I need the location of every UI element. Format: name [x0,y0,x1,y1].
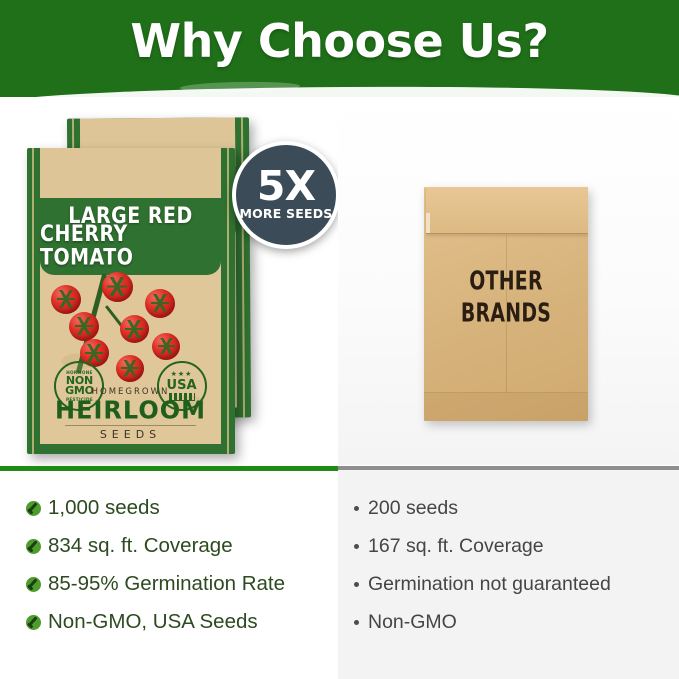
other-brands-line1: OTHER [432,265,580,297]
our-product-panel: LARGE RED CHERRY TOMATO ★★★ USA [0,97,338,465]
tomato-fruit [145,289,175,318]
packet-right-edge [227,148,229,454]
check-circle-icon [26,539,41,554]
list-item: 167 sq. ft. Coverage [354,527,673,565]
other-brands-label: OTHER BRANDS [432,265,580,329]
competitor-features-list: 200 seeds 167 sq. ft. Coverage Germinati… [354,489,673,641]
badge-subtitle-label: MORE SEEDS [239,206,332,221]
list-item: Non-GMO, USA Seeds [26,603,332,641]
competitor-features-panel: 200 seeds 167 sq. ft. Coverage Germinati… [338,470,679,679]
tomato-vine-illustration [40,269,221,379]
dot-bullet-icon [354,582,359,587]
our-features-panel: 1,000 seeds 834 sq. ft. Coverage 85-95% … [0,471,338,679]
packet-title-line2: CHERRY TOMATO [40,223,221,270]
badge-multiplier-label: 5X [257,169,315,204]
list-item: Non-GMO [354,603,673,641]
brand-seeds-label: SEEDS [40,428,221,441]
other-brands-line2: BRANDS [432,297,580,329]
envelope-flap-tab [426,213,430,233]
banner-bottom-brush-edge [0,85,679,97]
tomato-fruit [116,355,144,382]
packet-title-block: LARGE RED CHERRY TOMATO [40,198,221,275]
envelope-flap [426,187,588,234]
dot-bullet-icon [354,544,359,549]
list-item: 834 sq. ft. Coverage [26,527,332,565]
competitor-product-panel: OTHER BRANDS [338,97,679,465]
list-item: 1,000 seeds [26,489,332,527]
tomato-fruit [69,312,99,341]
list-item: Germination not guaranteed [354,565,673,603]
dot-bullet-icon [354,620,359,625]
page-title: Why Choose Us? [0,14,679,68]
brand-heirloom-label: HEIRLOOM [40,397,221,422]
packet-face-front: LARGE RED CHERRY TOMATO HORMONE [40,148,221,444]
packet-brand-block: HOMEGROWN HEIRLOOM SEEDS [40,387,221,441]
packet-left-edge [32,148,34,454]
other-brands-envelope: OTHER BRANDS [424,187,588,421]
seed-packet-front: LARGE RED CHERRY TOMATO HORMONE [27,148,235,454]
list-item-label: 167 sq. ft. Coverage [368,535,544,558]
dot-bullet-icon [354,506,359,511]
list-item-label: Germination not guaranteed [368,573,611,596]
check-circle-icon [26,577,41,592]
header-banner: Why Choose Us? [0,0,679,97]
check-circle-icon [26,615,41,630]
list-item-label: 85-95% Germination Rate [48,572,285,596]
list-item: 85-95% Germination Rate [26,565,332,603]
five-x-more-seeds-badge: 5X MORE SEEDS [232,141,340,249]
list-item-label: Non-GMO, USA Seeds [48,610,258,634]
tomato-fruit [102,272,133,302]
tomato-fruit [120,315,149,343]
tomato-fruit [152,333,180,360]
envelope-bottom-fold [424,392,588,421]
list-item-label: 1,000 seeds [48,496,160,520]
list-item-label: 834 sq. ft. Coverage [48,534,233,558]
brand-divider-rule [65,425,195,426]
our-features-list: 1,000 seeds 834 sq. ft. Coverage 85-95% … [26,489,332,641]
list-item-label: Non-GMO [368,611,457,634]
check-circle-icon [26,501,41,516]
list-item: 200 seeds [354,489,673,527]
list-item-label: 200 seeds [368,497,458,520]
comparison-infographic: Why Choose Us? LARGE RED CHERRY TOMATO [0,0,679,679]
usa-seal-stars: ★★★ [171,371,193,378]
tomato-fruit [51,285,81,314]
